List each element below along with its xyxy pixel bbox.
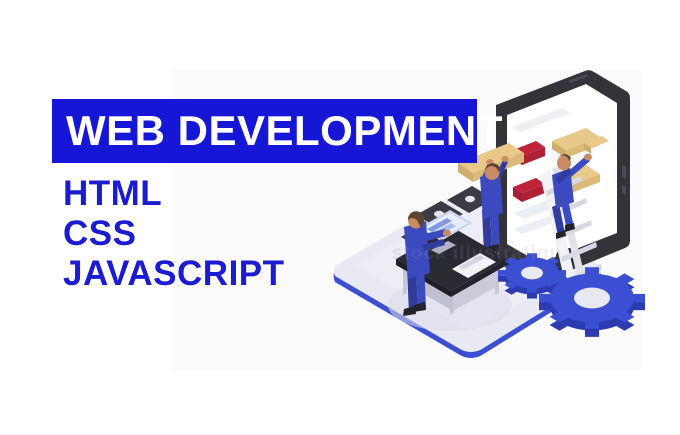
tech-item-css: CSS [63, 214, 285, 254]
title-banner: WEB DEVELOPMENT [52, 99, 477, 163]
tech-item-html: HTML [63, 174, 285, 214]
gear-large [539, 267, 645, 337]
tech-item-javascript: JAVASCRIPT [63, 254, 285, 294]
page-title: WEB DEVELOPMENT [52, 110, 503, 152]
technology-list: HTML CSS JAVASCRIPT [63, 174, 285, 294]
poster-canvas: stock illustration WEB DEVELOPMENT HTML … [0, 0, 680, 435]
